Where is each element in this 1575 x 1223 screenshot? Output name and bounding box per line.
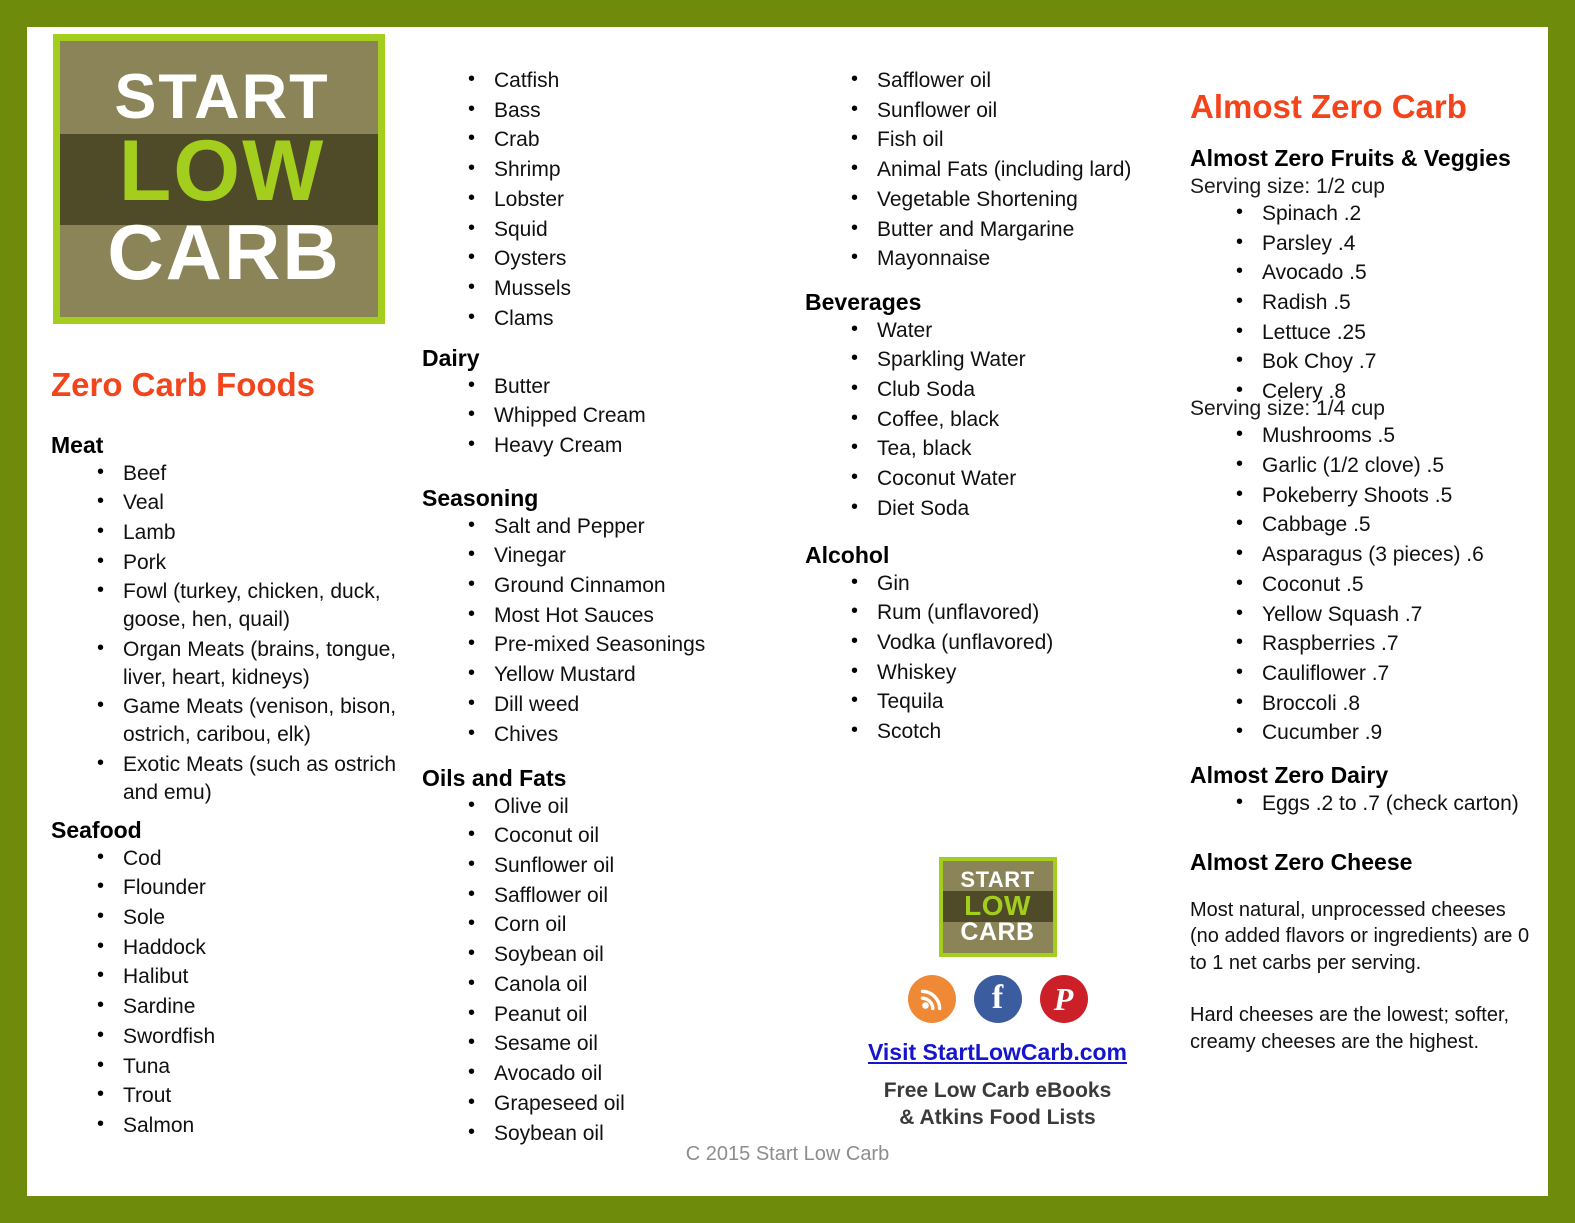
list-item: Sardine [91,993,421,1021]
list-item: Cabbage .5 [1230,511,1535,539]
list-item: Game Meats (venison, bison, ostrich, car… [91,693,421,748]
list-item: Gin [845,570,1185,598]
list-item: Whiskey [845,659,1185,687]
list-item: Exotic Meats (such as ostrich and emu) [91,751,421,806]
list-item: Chives [462,721,797,749]
footer-logo-text: START LOW CARB [943,861,1053,953]
section-almost-zero-cheese: Almost Zero Cheese Most natural, unproce… [1190,849,1535,1056]
logo-line-low: LOW [119,130,326,213]
list-seafood-continued: CatfishBassCrabShrimpLobsterSquidOysters… [422,67,797,332]
list-item: Canola oil [462,971,797,999]
list-item: Haddock [91,934,421,962]
list-item: Flounder [91,874,421,902]
list-alcohol: GinRum (unflavored)Vodka (unflavored)Whi… [805,570,1185,746]
list-beverages: WaterSparkling WaterClub SodaCoffee, bla… [805,317,1185,523]
list-item: Mussels [462,275,797,303]
list-item: Sunflower oil [462,852,797,880]
list-item: Fish oil [845,126,1185,154]
list-item: Scotch [845,718,1185,746]
list-item: Corn oil [462,911,797,939]
page-title-zero-carb: Zero Carb Foods [51,367,315,403]
poster-page: START LOW CARB Zero Carb Foods Meat Beef… [27,27,1548,1196]
list-item: Coffee, black [845,406,1185,434]
section-heading-seafood: Seafood [51,817,421,845]
list-oils-continued: Safflower oilSunflower oilFish oilAnimal… [805,67,1185,273]
list-item: Halibut [91,963,421,991]
facebook-icon[interactable]: f [974,975,1022,1023]
list-item: Sunflower oil [845,97,1185,125]
logo-inner: START LOW CARB [60,41,378,317]
list-item: Clams [462,305,797,333]
pinterest-glyph: P [1040,974,1088,1023]
list-item: Eggs .2 to .7 (check carton) [1230,790,1535,818]
list-item: Dill weed [462,691,797,719]
visit-website-link[interactable]: Visit StartLowCarb.com [805,1039,1190,1066]
list-item: Cod [91,845,421,873]
list-item: Pork [91,549,421,577]
list-item: Salmon [91,1112,421,1140]
list-item: Avocado .5 [1230,259,1535,287]
list-item: Lobster [462,186,797,214]
list-item: Tuna [91,1053,421,1081]
list-oils-and-fats: Olive oilCoconut oilSunflower oilSafflow… [422,793,797,1148]
list-item: Most Hot Sauces [462,602,797,630]
list-item: Olive oil [462,793,797,821]
list-half-cup-items: Spinach .2Parsley .4Avocado .5Radish .5L… [1190,200,1535,406]
list-item: Butter [462,373,797,401]
list-item: Water [845,317,1185,345]
section-oils-continued: Safflower oilSunflower oilFish oilAnimal… [805,67,1185,275]
list-seasoning: Salt and PepperVinegarGround CinnamonMos… [422,513,797,749]
list-item: Butter and Margarine [845,216,1185,244]
footer-tagline: Free Low Carb eBooks & Atkins Food Lists [805,1078,1190,1132]
list-item: Coconut .5 [1230,571,1535,599]
footer-promo-block: START LOW CARB f P [805,857,1190,1132]
list-meat: BeefVealLambPorkFowl (turkey, chicken, d… [51,460,421,807]
brand-logo: START LOW CARB [53,34,385,324]
footer-logo-inner: START LOW CARB [943,861,1053,953]
list-item: Rum (unflavored) [845,599,1185,627]
list-item: Bass [462,97,797,125]
list-item: Sole [91,904,421,932]
section-heading-dairy: Dairy [422,345,797,373]
facebook-glyph: f [974,973,1022,1023]
list-almost-zero-dairy: Eggs .2 to .7 (check carton) [1190,790,1535,818]
footer-logo-line-start: START [960,869,1034,891]
list-item: Lamb [91,519,421,547]
logo-line-carb: CARB [107,215,340,291]
copyright-notice: C 2015 Start Low Carb [27,1143,1548,1166]
section-seafood: Seafood CodFlounderSoleHaddockHalibutSar… [51,817,421,1142]
rss-glyph [908,975,956,1023]
section-seasoning: Seasoning Salt and PepperVinegarGround C… [422,485,797,750]
list-item: Oysters [462,245,797,273]
list-item: Safflower oil [462,882,797,910]
list-item: Beef [91,460,421,488]
list-item: Mushrooms .5 [1230,422,1535,450]
list-item: Whipped Cream [462,402,797,430]
list-item: Veal [91,489,421,517]
list-item: Catfish [462,67,797,95]
section-heading-almost-zero-cheese: Almost Zero Cheese [1190,849,1535,877]
list-item: Yellow Mustard [462,661,797,689]
list-item: Sparkling Water [845,346,1185,374]
list-item: Tea, black [845,435,1185,463]
list-item: Bok Choy .7 [1230,348,1535,376]
list-item: Ground Cinnamon [462,572,797,600]
list-item: Shrimp [462,156,797,184]
list-item: Pokeberry Shoots .5 [1230,482,1535,510]
section-seafood-continued: CatfishBassCrabShrimpLobsterSquidOysters… [422,67,797,334]
list-item: Garlic (1/2 clove) .5 [1230,452,1535,480]
section-heading-meat: Meat [51,432,421,460]
list-item: Coconut oil [462,822,797,850]
list-item: Organ Meats (brains, tongue, liver, hear… [91,636,421,691]
serving-size-quarter-cup: Serving size: 1/4 cup [1190,395,1535,422]
list-item: Cucumber .9 [1230,719,1535,747]
list-item: Club Soda [845,376,1185,404]
list-item: Yellow Squash .7 [1230,601,1535,629]
list-item: Crab [462,126,797,154]
tagline-line-2: & Atkins Food Lists [805,1105,1190,1132]
list-item: Spinach .2 [1230,200,1535,228]
list-quarter-cup-items: Mushrooms .5Garlic (1/2 clove) .5Pokeber… [1190,422,1535,747]
list-item: Peanut oil [462,1001,797,1029]
list-item: Lettuce .25 [1230,319,1535,347]
list-item: Vegetable Shortening [845,186,1185,214]
list-item: Avocado oil [462,1060,797,1088]
footer-logo-line-low: LOW [964,892,1031,919]
list-item: Squid [462,216,797,244]
section-fruits-veggies-quarter: Serving size: 1/4 cup Mushrooms .5Garlic… [1190,395,1535,749]
list-item: Soybean oil [462,941,797,969]
list-item: Salt and Pepper [462,513,797,541]
section-heading-oils-and-fats: Oils and Fats [422,765,797,793]
serving-size-half-cup: Serving size: 1/2 cup [1190,173,1535,200]
section-heading-almost-zero-dairy: Almost Zero Dairy [1190,762,1535,790]
logo-line-start: START [114,67,329,128]
pinterest-icon[interactable]: P [1040,975,1088,1023]
list-item: Radish .5 [1230,289,1535,317]
logo-text: START LOW CARB [60,41,378,317]
section-meat: Meat BeefVealLambPorkFowl (turkey, chick… [51,432,421,808]
list-dairy: ButterWhipped CreamHeavy Cream [422,373,797,460]
list-item: Vodka (unflavored) [845,629,1185,657]
section-heading-alcohol: Alcohol [805,542,1185,570]
rss-icon[interactable] [908,975,956,1023]
list-item: Safflower oil [845,67,1185,95]
tagline-line-1: Free Low Carb eBooks [805,1078,1190,1105]
list-item: Diet Soda [845,495,1185,523]
list-item: Cauliflower .7 [1230,660,1535,688]
page-title-almost-zero-carb: Almost Zero Carb [1190,89,1467,125]
list-item: Trout [91,1082,421,1110]
section-fruits-veggies: Almost Zero Fruits & Veggies Serving siz… [1190,145,1535,408]
list-item: Vinegar [462,542,797,570]
footer-brand-logo: START LOW CARB [939,857,1057,957]
list-item: Mayonnaise [845,245,1185,273]
section-beverages: Beverages WaterSparkling WaterClub SodaC… [805,289,1185,525]
footer-logo-line-carb: CARB [960,920,1034,945]
social-links: f P [805,975,1190,1023]
section-heading-fruits-veggies: Almost Zero Fruits & Veggies [1190,145,1535,173]
list-item: Coconut Water [845,465,1185,493]
section-dairy: Dairy ButterWhipped CreamHeavy Cream [422,345,797,462]
list-item: Asparagus (3 pieces) .6 [1230,541,1535,569]
list-item: Heavy Cream [462,432,797,460]
list-item: Broccoli .8 [1230,690,1535,718]
list-item: Grapeseed oil [462,1090,797,1118]
list-item: Animal Fats (including lard) [845,156,1185,184]
list-item: Tequila [845,688,1185,716]
section-heading-seasoning: Seasoning [422,485,797,513]
section-oils-and-fats: Oils and Fats Olive oilCoconut oilSunflo… [422,765,797,1149]
list-item: Swordfish [91,1023,421,1051]
list-item: Sesame oil [462,1030,797,1058]
list-seafood: CodFlounderSoleHaddockHalibutSardineSwor… [51,845,421,1140]
list-item: Parsley .4 [1230,230,1535,258]
section-almost-zero-dairy: Almost Zero Dairy Eggs .2 to .7 (check c… [1190,762,1535,819]
cheese-paragraph-1: Most natural, unprocessed cheeses (no ad… [1190,897,1535,977]
list-item: Fowl (turkey, chicken, duck, goose, hen,… [91,578,421,633]
list-item: Raspberries .7 [1230,630,1535,658]
list-item: Pre-mixed Seasonings [462,631,797,659]
cheese-paragraph-2: Hard cheeses are the lowest; softer, cre… [1190,1002,1535,1055]
section-alcohol: Alcohol GinRum (unflavored)Vodka (unflav… [805,542,1185,748]
section-heading-beverages: Beverages [805,289,1185,317]
